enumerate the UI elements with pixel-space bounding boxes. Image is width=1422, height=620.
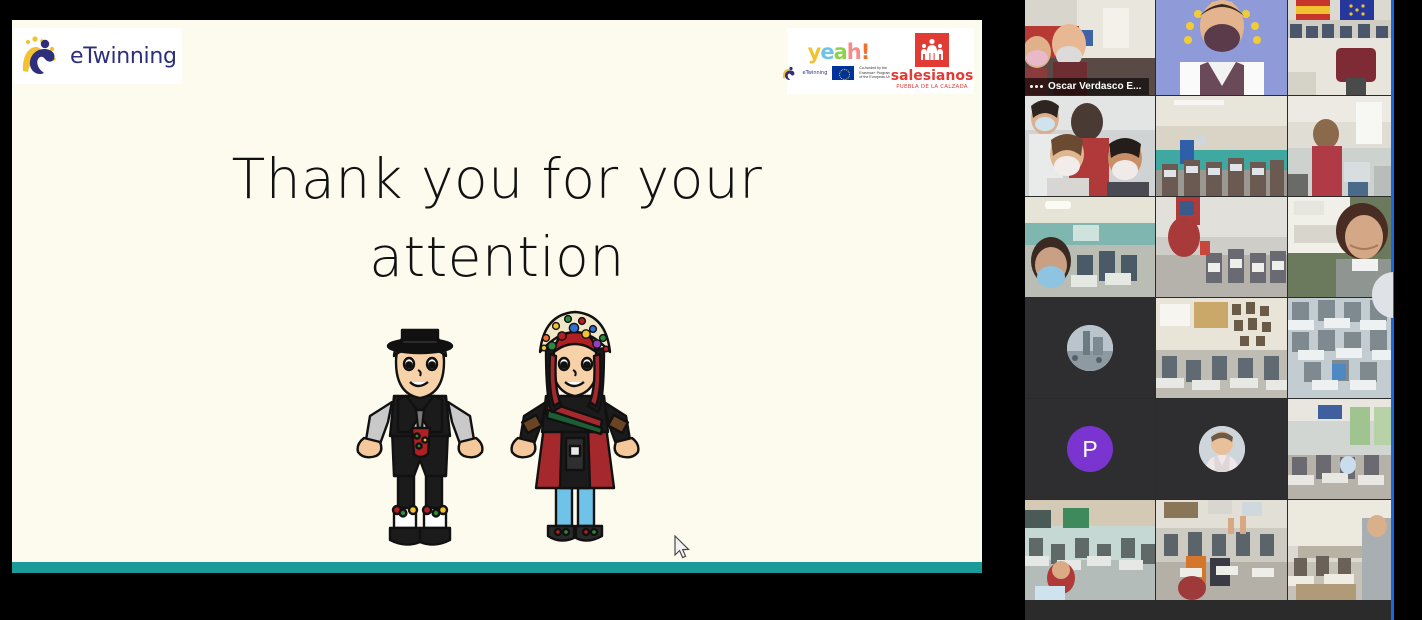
avatar-photo-image bbox=[1067, 325, 1113, 371]
video-tile-13[interactable]: P bbox=[1025, 399, 1155, 499]
tile-2-video-feed bbox=[1156, 0, 1287, 95]
tile-3-video-feed bbox=[1288, 0, 1393, 95]
folk-costume-illustration bbox=[12, 310, 982, 550]
video-tile-1[interactable]: Oscar Verdasco E... bbox=[1025, 0, 1155, 95]
slide-footer-band bbox=[12, 562, 982, 573]
salesianos-logo: salesianos PUEBLA DE LA CALZADA bbox=[890, 28, 974, 94]
slide-title: Thank you for your attention bbox=[12, 140, 982, 296]
video-tile-8[interactable] bbox=[1156, 197, 1287, 297]
tile-17-video-feed bbox=[1156, 500, 1287, 600]
tile-18-video-feed bbox=[1288, 500, 1393, 600]
tile-4-video-feed bbox=[1025, 96, 1155, 196]
mini-etwinning-label: eTwinning bbox=[803, 70, 828, 76]
video-tile-15[interactable] bbox=[1288, 399, 1393, 499]
yeah-sub-logos: eTwinning Co-funded by the Erasmus+ Prog… bbox=[782, 66, 896, 81]
video-tile-14[interactable] bbox=[1156, 399, 1287, 499]
tile-11-video-feed bbox=[1156, 298, 1287, 398]
boy-character-illustration bbox=[346, 310, 494, 550]
salesianos-wordmark: salesianos bbox=[891, 69, 974, 83]
girl-character-illustration bbox=[500, 310, 648, 550]
tile-16-video-feed bbox=[1025, 500, 1155, 600]
video-tile-10[interactable] bbox=[1025, 298, 1155, 398]
video-tile-11[interactable] bbox=[1156, 298, 1287, 398]
participant-name-label: Oscar Verdasco E... bbox=[1048, 81, 1141, 92]
application-window: eTwinning yeah! eTwinning bbox=[0, 0, 1422, 620]
video-tile-12[interactable] bbox=[1288, 298, 1393, 398]
video-tile-17[interactable] bbox=[1156, 500, 1287, 600]
presentation-slide[interactable]: eTwinning yeah! eTwinning bbox=[12, 20, 982, 573]
screen-share-region[interactable]: eTwinning yeah! eTwinning bbox=[0, 0, 982, 620]
slide-logo-cluster: yeah! eTwinning Co-funded by the Erasmus… bbox=[787, 28, 974, 94]
participant-avatar-portrait bbox=[1199, 426, 1245, 472]
salesianos-mark-icon bbox=[915, 33, 949, 67]
avatar-portrait-image bbox=[1199, 426, 1245, 472]
participant-video-grid[interactable]: Oscar Verdasco E... bbox=[1025, 0, 1393, 620]
more-options-icon[interactable] bbox=[1030, 85, 1043, 88]
video-tile-7[interactable] bbox=[1025, 197, 1155, 297]
eu-flag-icon bbox=[832, 66, 854, 80]
video-tile-16[interactable] bbox=[1025, 500, 1155, 600]
video-tile-3[interactable] bbox=[1288, 0, 1393, 95]
participant-letter-avatar: P bbox=[1067, 426, 1113, 472]
participant-avatar-photo bbox=[1067, 325, 1113, 371]
yeah-wordmark: yeah! bbox=[808, 42, 870, 63]
yeah-project-logo: yeah! eTwinning Co-funded by the Erasmus… bbox=[787, 28, 890, 94]
video-tile-18[interactable] bbox=[1288, 500, 1393, 600]
slide-title-line-2: attention bbox=[12, 218, 982, 296]
tile-5-video-feed bbox=[1156, 96, 1287, 196]
etwinning-wordmark: eTwinning bbox=[70, 44, 177, 69]
video-tile-2[interactable] bbox=[1156, 0, 1287, 95]
tile-12-video-feed bbox=[1288, 298, 1393, 398]
mini-etwinning-icon bbox=[782, 66, 798, 80]
slide-title-line-1: Thank you for your bbox=[12, 140, 982, 218]
tile-6-video-feed bbox=[1288, 96, 1393, 196]
video-tile-6[interactable] bbox=[1288, 96, 1393, 196]
etwinning-logo: eTwinning bbox=[14, 28, 182, 84]
participant-name-badge[interactable]: Oscar Verdasco E... bbox=[1025, 78, 1149, 95]
tile-15-video-feed bbox=[1288, 399, 1393, 499]
tile-7-video-feed bbox=[1025, 197, 1155, 297]
video-tile-4[interactable] bbox=[1025, 96, 1155, 196]
tile-8-video-feed bbox=[1156, 197, 1287, 297]
video-tile-5[interactable] bbox=[1156, 96, 1287, 196]
salesianos-subtitle: PUEBLA DE LA CALZADA bbox=[896, 84, 968, 90]
etwinning-mark-icon bbox=[20, 35, 66, 77]
